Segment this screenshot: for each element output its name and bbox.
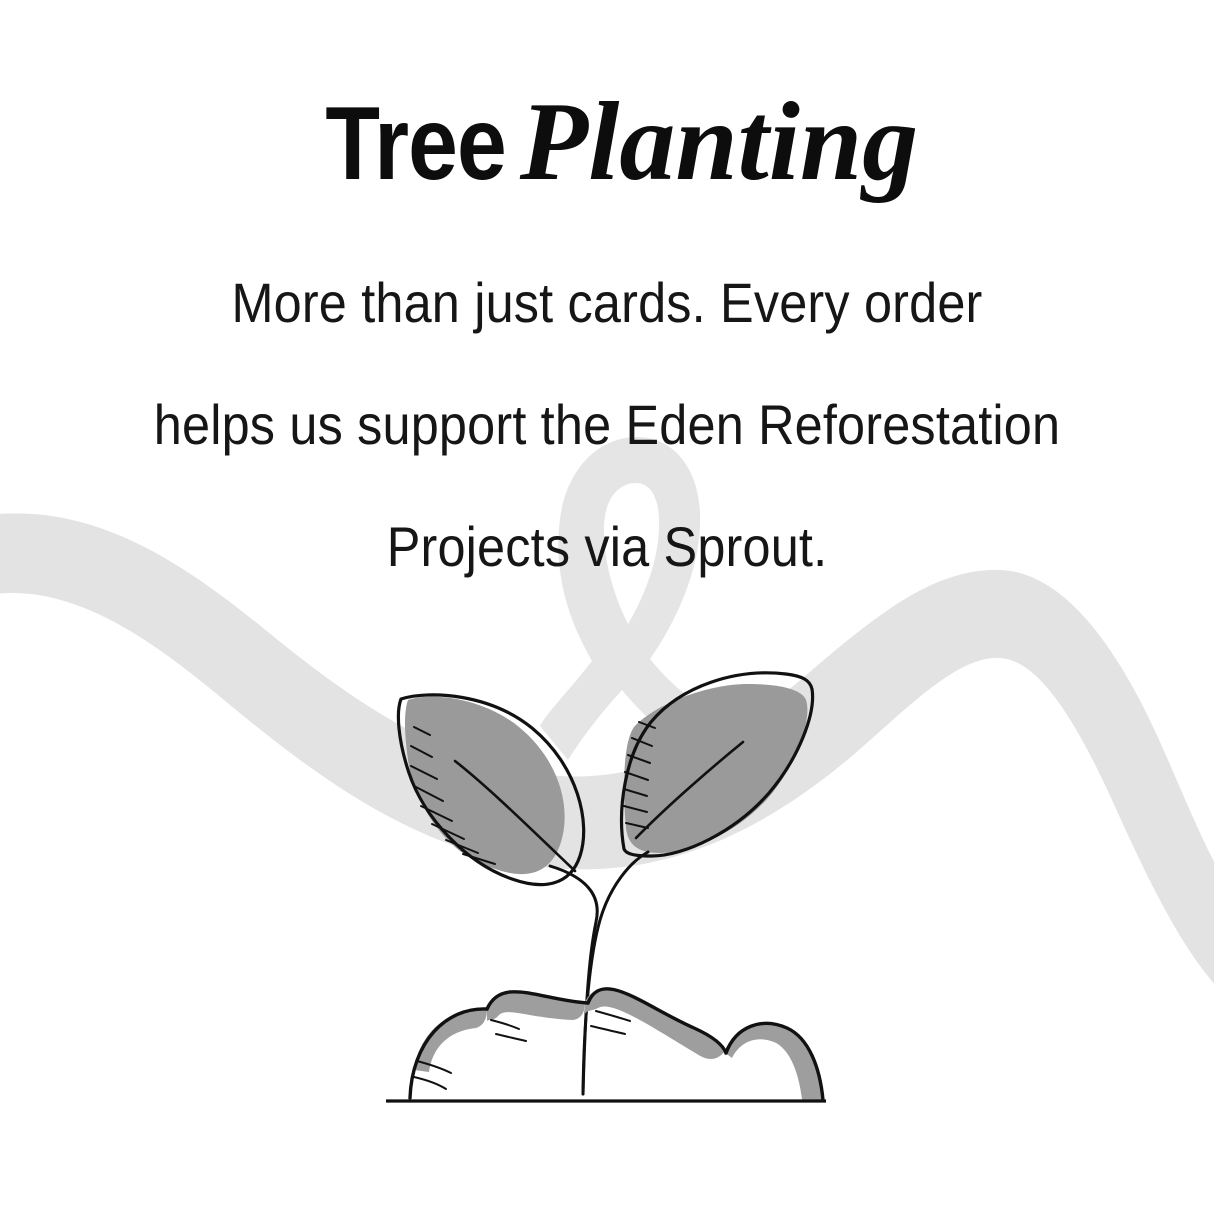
leaf-right — [622, 673, 813, 856]
title-accent-word: Planting — [520, 86, 918, 198]
soil-hatching — [414, 1011, 630, 1089]
text-block: TreePlanting More than just cards. Every… — [0, 0, 1214, 608]
subtitle-line-3: Projects via Sprout. — [61, 486, 1154, 608]
leaf-left — [398, 695, 583, 885]
title-main-word: Tree — [325, 92, 506, 196]
leaf-left-hatching — [411, 727, 495, 864]
page-title: TreePlanting — [0, 0, 1214, 198]
subtitle-line-2: helps us support the Eden Reforestation — [61, 364, 1154, 486]
tree-planting-card: TreePlanting More than just cards. Every… — [0, 0, 1214, 1214]
soil-shading — [414, 989, 822, 1101]
soil-mound — [410, 989, 823, 1101]
stem — [550, 852, 648, 1094]
leaf-right-hatching — [624, 722, 655, 828]
subtitle-line-1: More than just cards. Every order — [61, 242, 1154, 364]
subtitle: More than just cards. Every order helps … — [0, 198, 1214, 608]
